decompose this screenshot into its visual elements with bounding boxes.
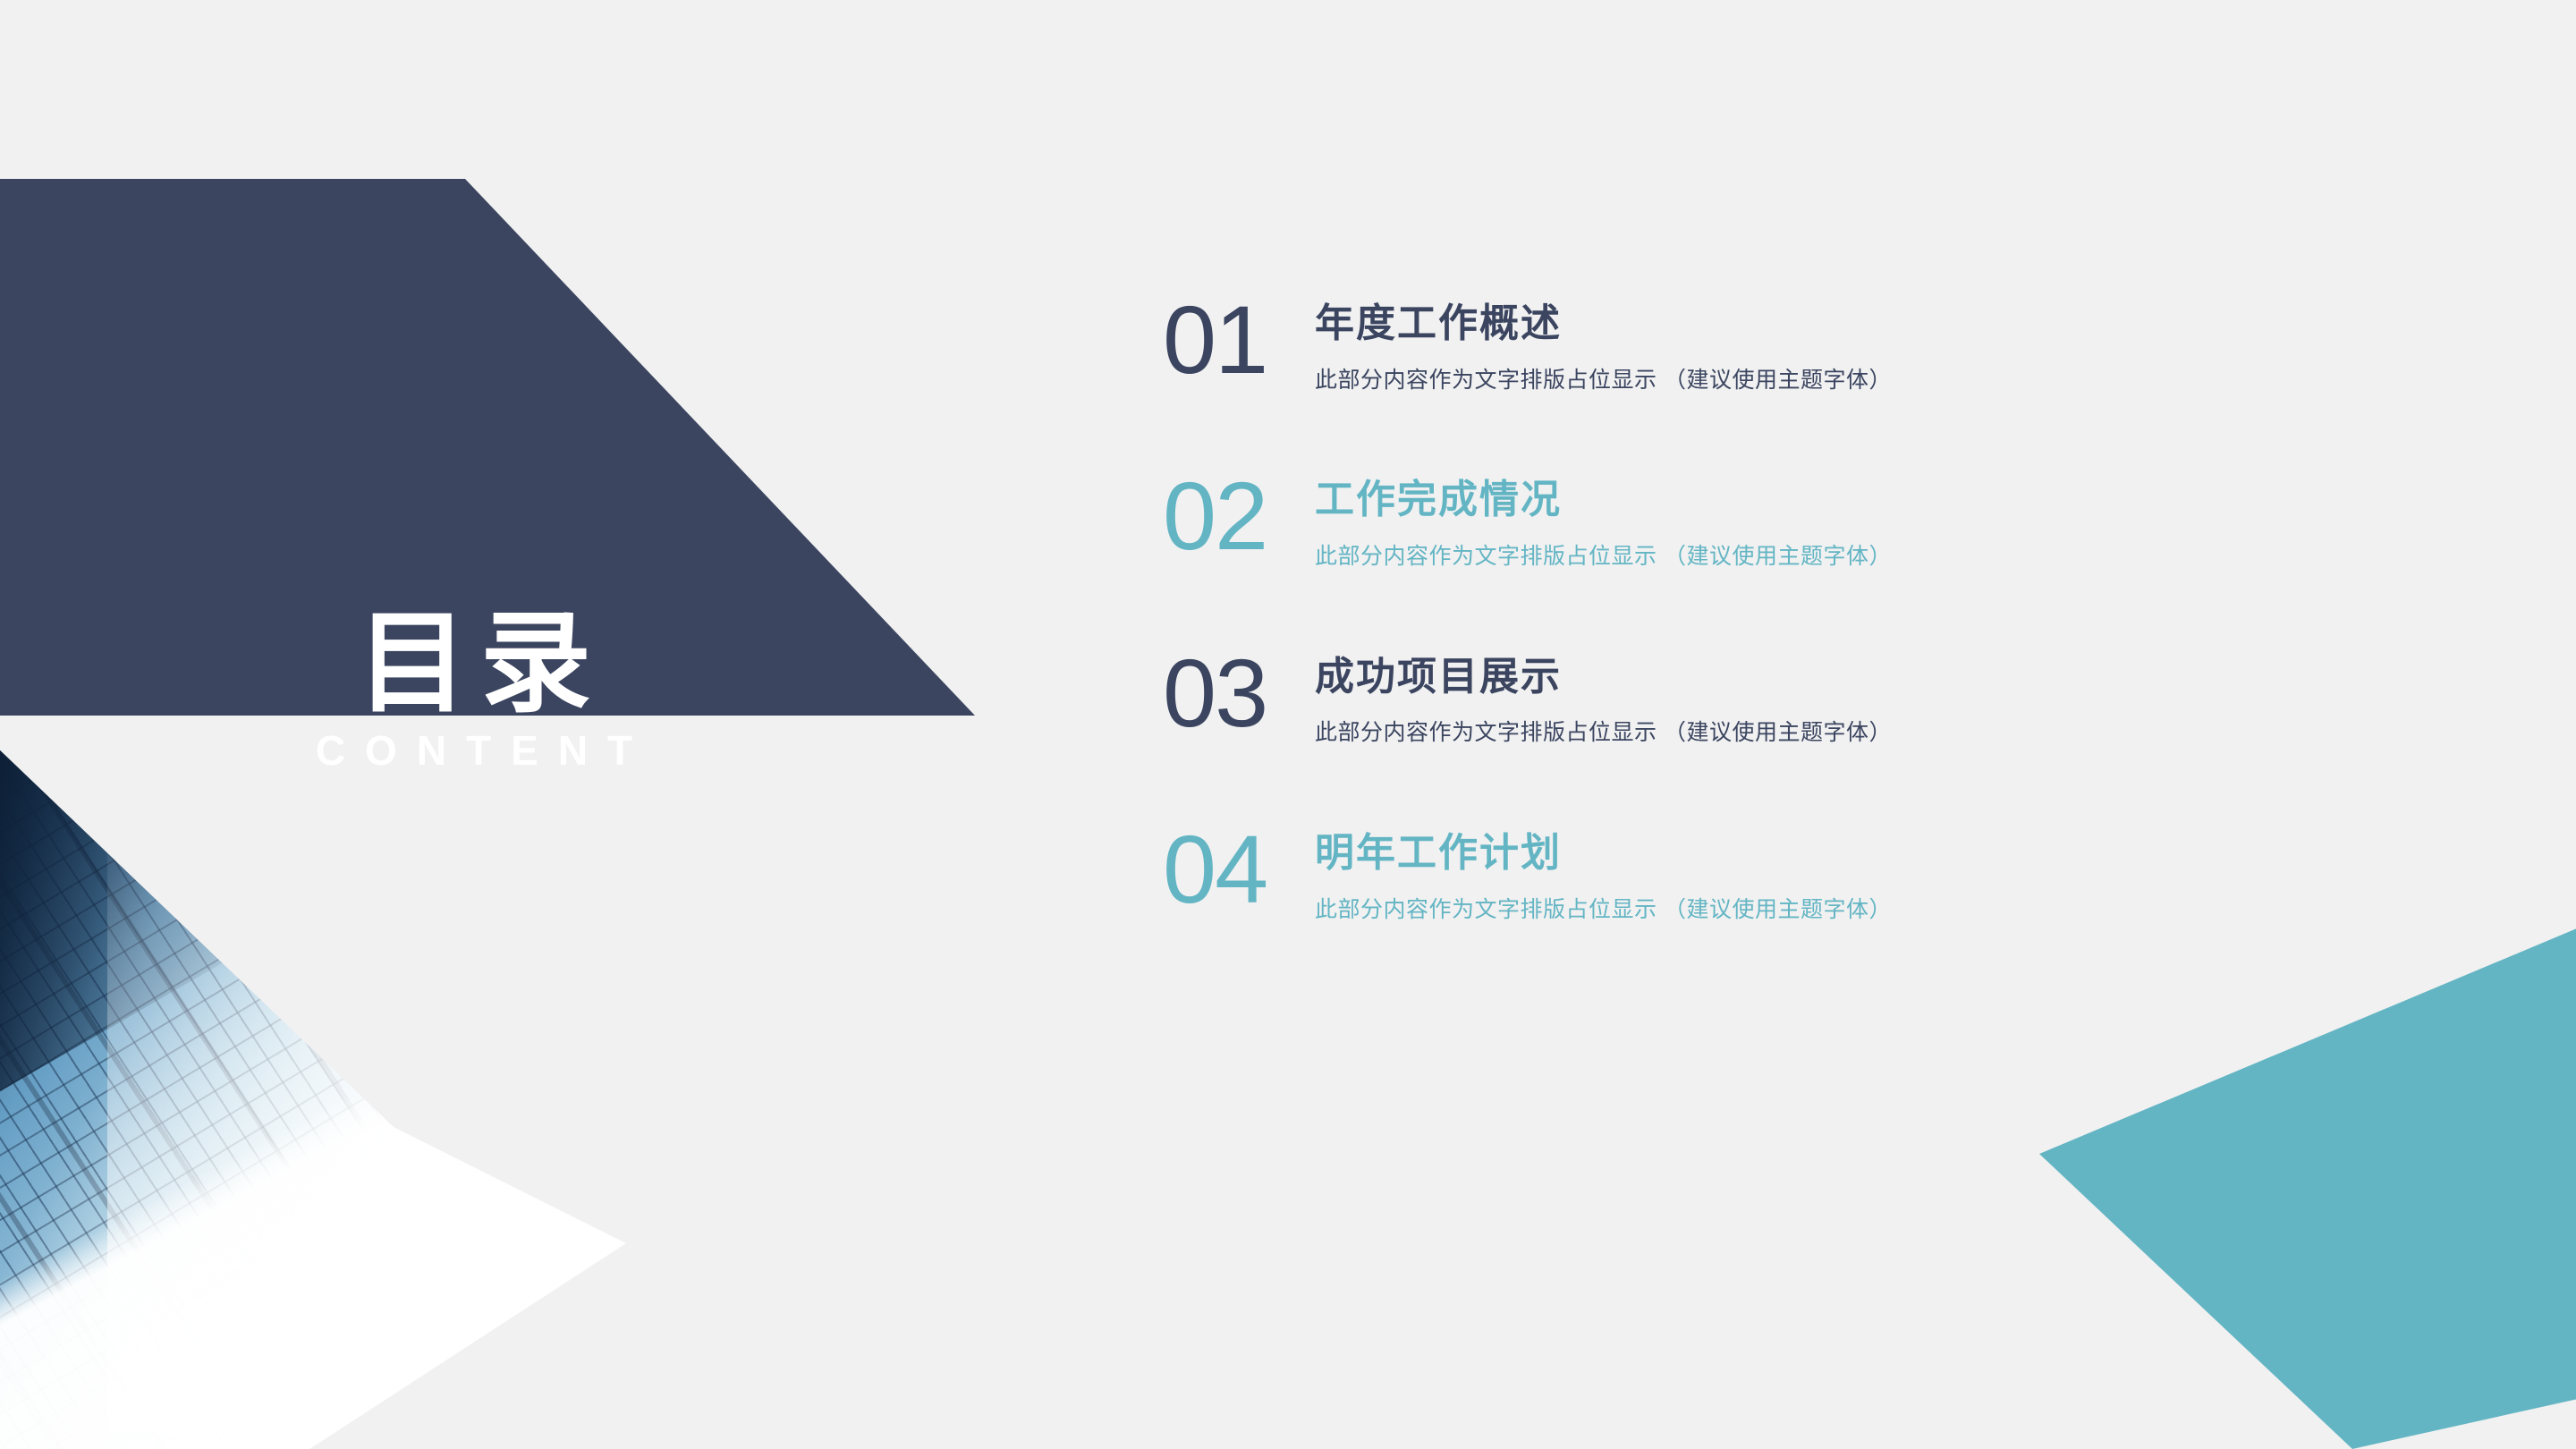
toc-description: 此部分内容作为文字排版占位显示 （建议使用主题字体）: [1315, 542, 1892, 572]
toc-number: 02: [1163, 471, 1315, 560]
page-subtitle: CONTENT: [224, 726, 724, 775]
toc-item-04[interactable]: 04 明年工作计划 此部分内容作为文字排版占位显示 （建议使用主题字体）: [1163, 825, 2326, 924]
photo-sky-highlight: [107, 805, 653, 1431]
toc-title: 明年工作计划: [1315, 830, 1892, 877]
toc-item-03[interactable]: 03 成功项目展示 此部分内容作为文字排版占位显示 （建议使用主题字体）: [1163, 648, 2326, 748]
table-of-contents: 01 年度工作概述 此部分内容作为文字排版占位显示 （建议使用主题字体） 02 …: [1163, 295, 2326, 924]
toc-title: 工作完成情况: [1315, 477, 1892, 524]
toc-text-group: 成功项目展示 此部分内容作为文字排版占位显示 （建议使用主题字体）: [1315, 648, 1892, 748]
toc-item-02[interactable]: 02 工作完成情况 此部分内容作为文字排版占位显示 （建议使用主题字体）: [1163, 471, 2326, 571]
title-block: 目录 CONTENT: [224, 608, 724, 775]
slide-canvas: 目录 CONTENT 01 年度工作概述 此部分内容作为文字排版占位显示 （建议…: [0, 0, 2576, 1449]
toc-number: 04: [1163, 825, 1315, 913]
toc-description: 此部分内容作为文字排版占位显示 （建议使用主题字体）: [1315, 895, 1892, 925]
toc-text-group: 年度工作概述 此部分内容作为文字排版占位显示 （建议使用主题字体）: [1315, 295, 1892, 394]
toc-item-01[interactable]: 01 年度工作概述 此部分内容作为文字排版占位显示 （建议使用主题字体）: [1163, 295, 2326, 394]
teal-arrow-accent: [2039, 894, 2576, 1449]
toc-description: 此部分内容作为文字排版占位显示 （建议使用主题字体）: [1315, 718, 1892, 748]
toc-title: 成功项目展示: [1315, 654, 1892, 701]
toc-text-group: 工作完成情况 此部分内容作为文字排版占位显示 （建议使用主题字体）: [1315, 471, 1892, 571]
toc-number: 01: [1163, 295, 1315, 384]
toc-title: 年度工作概述: [1315, 301, 1892, 348]
page-title: 目录: [224, 608, 724, 719]
toc-text-group: 明年工作计划 此部分内容作为文字排版占位显示 （建议使用主题字体）: [1315, 825, 1892, 924]
toc-description: 此部分内容作为文字排版占位显示 （建议使用主题字体）: [1315, 366, 1892, 395]
toc-number: 03: [1163, 648, 1315, 737]
glass-skyscraper-photo: [0, 707, 653, 1449]
